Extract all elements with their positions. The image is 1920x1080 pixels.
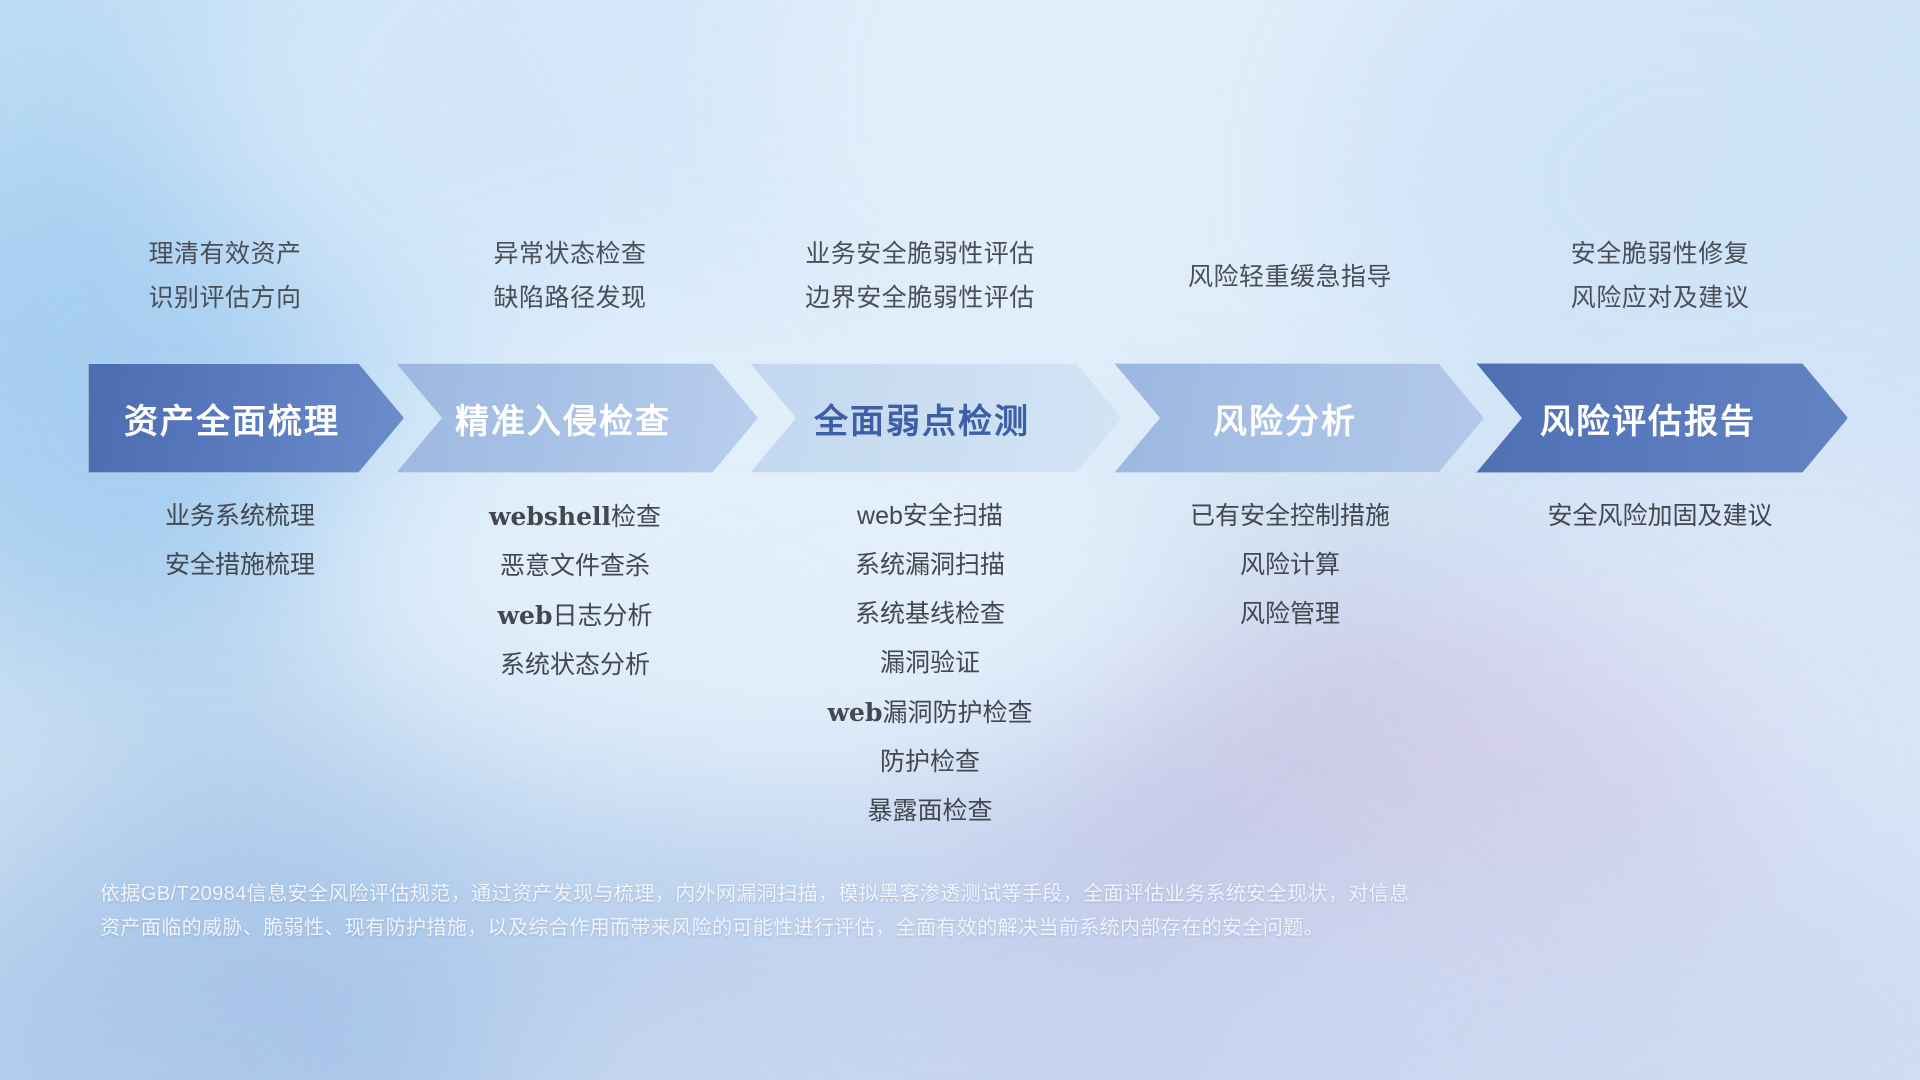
list-item: 安全措施梳理: [70, 541, 410, 590]
list-item: web漏洞防护检查: [755, 688, 1105, 738]
stage-detail-lists: 业务系统梳理 安全措施梳理 webshell检查 恶意文件查杀 web日志分析 …: [0, 492, 1920, 852]
top-captions-row: 理清有效资产 识别评估方向 异常状态检查 缺陷路径发现 业务安全脆弱性评估 边界…: [0, 0, 1920, 360]
list-item: 暴露面检查: [755, 787, 1105, 836]
stage-chevron-4[interactable]: 风险分析: [1114, 363, 1484, 473]
caption-text: 安全脆弱性修复: [1500, 232, 1820, 276]
stage-chevron-5[interactable]: 风险评估报告: [1476, 363, 1848, 473]
list-item: 防护检查: [755, 738, 1105, 787]
stage-label: 资产全面梳理: [124, 394, 340, 443]
detail-list-stage-1: 业务系统梳理 安全措施梳理: [70, 492, 410, 590]
stage-label: 风险分析: [1213, 394, 1357, 443]
stage-label: 风险评估报告: [1540, 394, 1756, 443]
list-item: 漏洞验证: [755, 639, 1105, 688]
stage-chevron-2[interactable]: 精准入侵检查: [396, 363, 758, 473]
caption-text: 风险轻重缓急指导: [1130, 255, 1450, 299]
footnote-description: 依据GB/T20984信息安全风险评估规范，通过资产发现与梳理，内外网漏洞扫描，…: [100, 877, 1660, 945]
caption-text: 理清有效资产: [60, 232, 390, 276]
list-item: 业务系统梳理: [70, 492, 410, 541]
list-item: 恶意文件查杀: [410, 542, 740, 591]
list-item: 已有安全控制措施: [1125, 492, 1455, 541]
list-item: 系统漏洞扫描: [755, 541, 1105, 590]
caption-text: 识别评估方向: [60, 276, 390, 320]
detail-list-stage-3: web安全扫描 系统漏洞扫描 系统基线检查 漏洞验证 web漏洞防护检查 防护检…: [755, 492, 1105, 836]
list-item: 安全风险加固及建议: [1480, 492, 1840, 541]
list-item: web安全扫描: [755, 492, 1105, 541]
caption-text: 异常状态检查: [415, 232, 725, 276]
caption-text: 业务安全脆弱性评估: [760, 232, 1080, 276]
detail-list-stage-5: 安全风险加固及建议: [1480, 492, 1840, 541]
stage-label: 全面弱点检测: [814, 394, 1030, 443]
process-chevron-band: 资产全面梳理 精准入侵检查 全面弱点检测 风险分析 风险评估报告: [0, 363, 1920, 473]
list-item: 系统状态分析: [410, 641, 740, 690]
top-captions-stage-4: 风险轻重缓急指导: [1130, 255, 1450, 299]
footnote-line-2: 资产面临的威胁、脆弱性、现有防护措施，以及综合作用而带来风险的可能性进行评估，全…: [100, 911, 1660, 945]
caption-text: 缺陷路径发现: [415, 276, 725, 320]
top-captions-stage-5: 安全脆弱性修复 风险应对及建议: [1500, 232, 1820, 320]
list-item: web日志分析: [410, 591, 740, 641]
stage-label: 精准入侵检查: [455, 394, 671, 443]
list-item: 风险计算: [1125, 541, 1455, 590]
list-item: 风险管理: [1125, 590, 1455, 639]
top-captions-stage-3: 业务安全脆弱性评估 边界安全脆弱性评估: [760, 232, 1080, 320]
detail-list-stage-2: webshell检查 恶意文件查杀 web日志分析 系统状态分析: [410, 492, 740, 690]
stage-chevron-1[interactable]: 资产全面梳理: [88, 363, 404, 473]
top-captions-stage-2: 异常状态检查 缺陷路径发现: [415, 232, 725, 320]
top-captions-stage-1: 理清有效资产 识别评估方向: [60, 232, 390, 320]
list-item: 系统基线检查: [755, 590, 1105, 639]
caption-text: 边界安全脆弱性评估: [760, 276, 1080, 320]
detail-list-stage-4: 已有安全控制措施 风险计算 风险管理: [1125, 492, 1455, 639]
stage-chevron-3[interactable]: 全面弱点检测: [750, 363, 1122, 473]
caption-text: 风险应对及建议: [1500, 276, 1820, 320]
footnote-line-1: 依据GB/T20984信息安全风险评估规范，通过资产发现与梳理，内外网漏洞扫描，…: [100, 877, 1660, 911]
list-item: webshell检查: [410, 492, 740, 542]
